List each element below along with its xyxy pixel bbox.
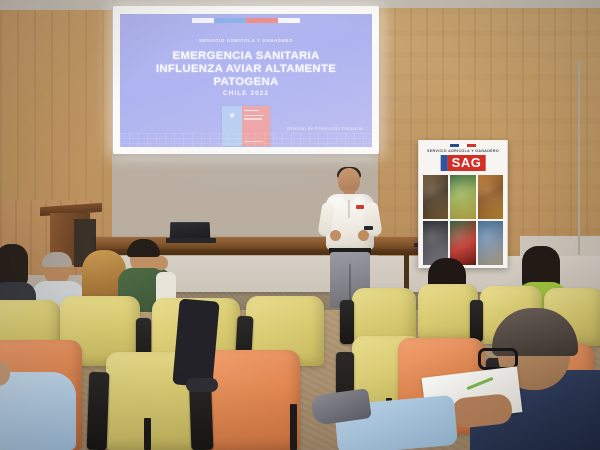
slide-title-line-1: EMERGENCIA SANITARIA <box>128 50 364 63</box>
chile-flag-icon <box>450 144 476 147</box>
seat-yellow-6 <box>418 284 478 340</box>
collage-photo-1 <box>423 175 448 219</box>
banner-organization: SERVICIO AGRICOLA Y GANADERO <box>419 149 507 153</box>
wall-cable <box>578 60 580 255</box>
sag-logo-icon: SAG <box>441 155 486 171</box>
slide-organization: SERVICIO AGRICOLA Y GANADERO <box>120 38 372 43</box>
seat-armrest-5 <box>87 372 110 450</box>
sag-logo-text: SAG <box>448 155 486 171</box>
sag-rollup-banner: SERVICIO AGRICOLA Y GANADERO SAG <box>418 140 508 268</box>
sandal <box>186 378 218 392</box>
presenter-hand-right <box>358 230 369 241</box>
slide-title: EMERGENCIA SANITARIA INFLUENZA AVIAR ALT… <box>128 50 364 89</box>
seat-armrest-3 <box>340 300 354 344</box>
seat-leg-1 <box>144 418 151 450</box>
presenter <box>318 168 382 308</box>
seat-armrest-4 <box>470 300 483 342</box>
collage-photo-6 <box>478 221 503 265</box>
projection-screen: SERVICIO AGRICOLA Y GANADERO EMERGENCIA … <box>113 6 379 154</box>
presenter-hand-left <box>330 230 341 241</box>
seat-leg-2 <box>290 404 297 450</box>
slide-title-line-2: INFLUENZA AVIAR ALTAMENTE <box>128 63 364 76</box>
slide-division: División de Protección Pecuaria <box>287 126 363 131</box>
slide-bottom-pattern <box>120 133 372 147</box>
collage-photo-2 <box>450 175 475 219</box>
slide-title-line-3: PATOGENA <box>128 76 364 89</box>
collage-photo-3 <box>478 175 503 219</box>
laptop-black-base <box>166 238 216 243</box>
dark-trousers <box>172 298 219 387</box>
chile-flag-bar-icon <box>192 18 300 23</box>
presentation-room-photo: SERVICIO AGRICOLA Y GANADERO EMERGENCIA … <box>0 0 600 450</box>
banner-photo-collage <box>423 175 503 265</box>
presenter-shirt-logo <box>356 205 364 209</box>
presenter-watch <box>364 226 373 230</box>
slide-subtitle: CHILE 2022 <box>120 90 372 97</box>
presentation-slide: SERVICIO AGRICOLA Y GANADERO EMERGENCIA … <box>120 14 372 147</box>
